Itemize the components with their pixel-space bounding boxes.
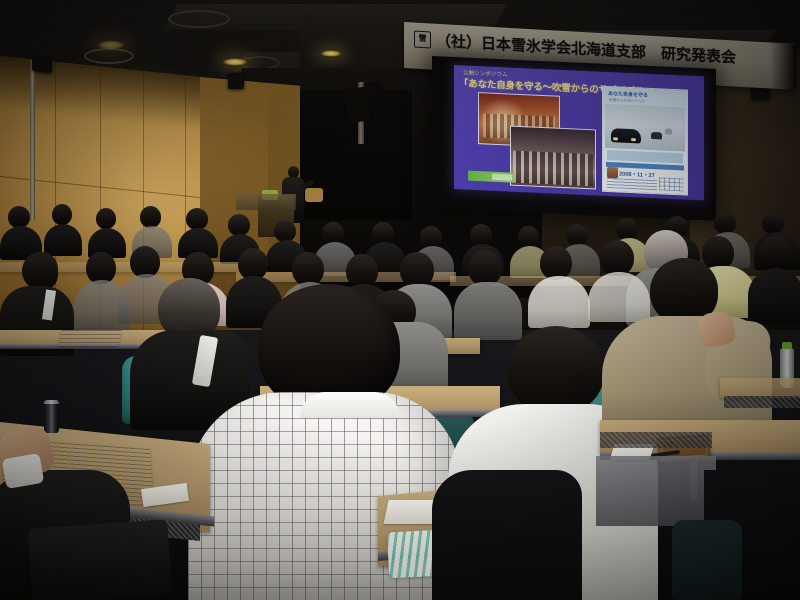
ceiling-vent [168, 10, 230, 28]
stage-table [236, 194, 296, 210]
speaker-icon [32, 57, 52, 74]
ceiling-downlight [222, 58, 248, 66]
shirt-collar [300, 392, 400, 418]
support-pole [30, 60, 35, 221]
table-modesty-panel [596, 456, 716, 526]
attendee-head [508, 326, 604, 414]
poster-date: 2008・11・27 [619, 169, 655, 179]
slide-poster-image: あなた自身を守る 吹雪からのサバイバル 2008・11・27 [602, 86, 688, 196]
program-handout [58, 330, 121, 346]
poster-blizzard-photo [605, 104, 685, 152]
car-icon [611, 128, 641, 143]
conference-hall-photo: 雪 （社）日本雪氷学会北海道支部 研究発表会 公開シンポジウム 「あなた自身を守… [0, 0, 800, 600]
table-under-shelf [724, 396, 800, 408]
poster-text-band [607, 150, 683, 163]
society-logo-icon: 雪 [414, 31, 431, 49]
conference-chair [672, 520, 742, 600]
conference-table [720, 378, 800, 398]
bottle-cap [782, 342, 792, 349]
attendee-head [22, 252, 58, 290]
table-under-shelf [600, 432, 712, 448]
truck-icon [665, 129, 672, 135]
slide-photo-2 [510, 126, 596, 190]
projection-screen: 公開シンポジウム 「あなた自身を守る〜吹雪からのサバイバル」 あなた自身を守る … [432, 56, 716, 221]
poster-map-grid [659, 177, 684, 191]
poster-portrait [607, 167, 618, 178]
sponsor-logo-icon [468, 171, 514, 183]
presentation-slide: 公開シンポジウム 「あなた自身を守る〜吹雪からのサバイバル」 あなた自身を守る … [454, 65, 704, 200]
speaker-icon [228, 73, 244, 89]
object-on-stage-table [305, 188, 323, 202]
banner-shadow-end [770, 42, 796, 89]
poster-details-text [607, 178, 657, 190]
ceiling-vent [84, 48, 134, 64]
drink-can [44, 400, 59, 433]
ceiling-downlight [320, 50, 342, 57]
ceiling-downlight [96, 40, 126, 50]
black-bag-under-table [28, 519, 173, 600]
chair-back [432, 470, 582, 600]
can-top [44, 400, 59, 404]
car-icon [651, 132, 662, 139]
